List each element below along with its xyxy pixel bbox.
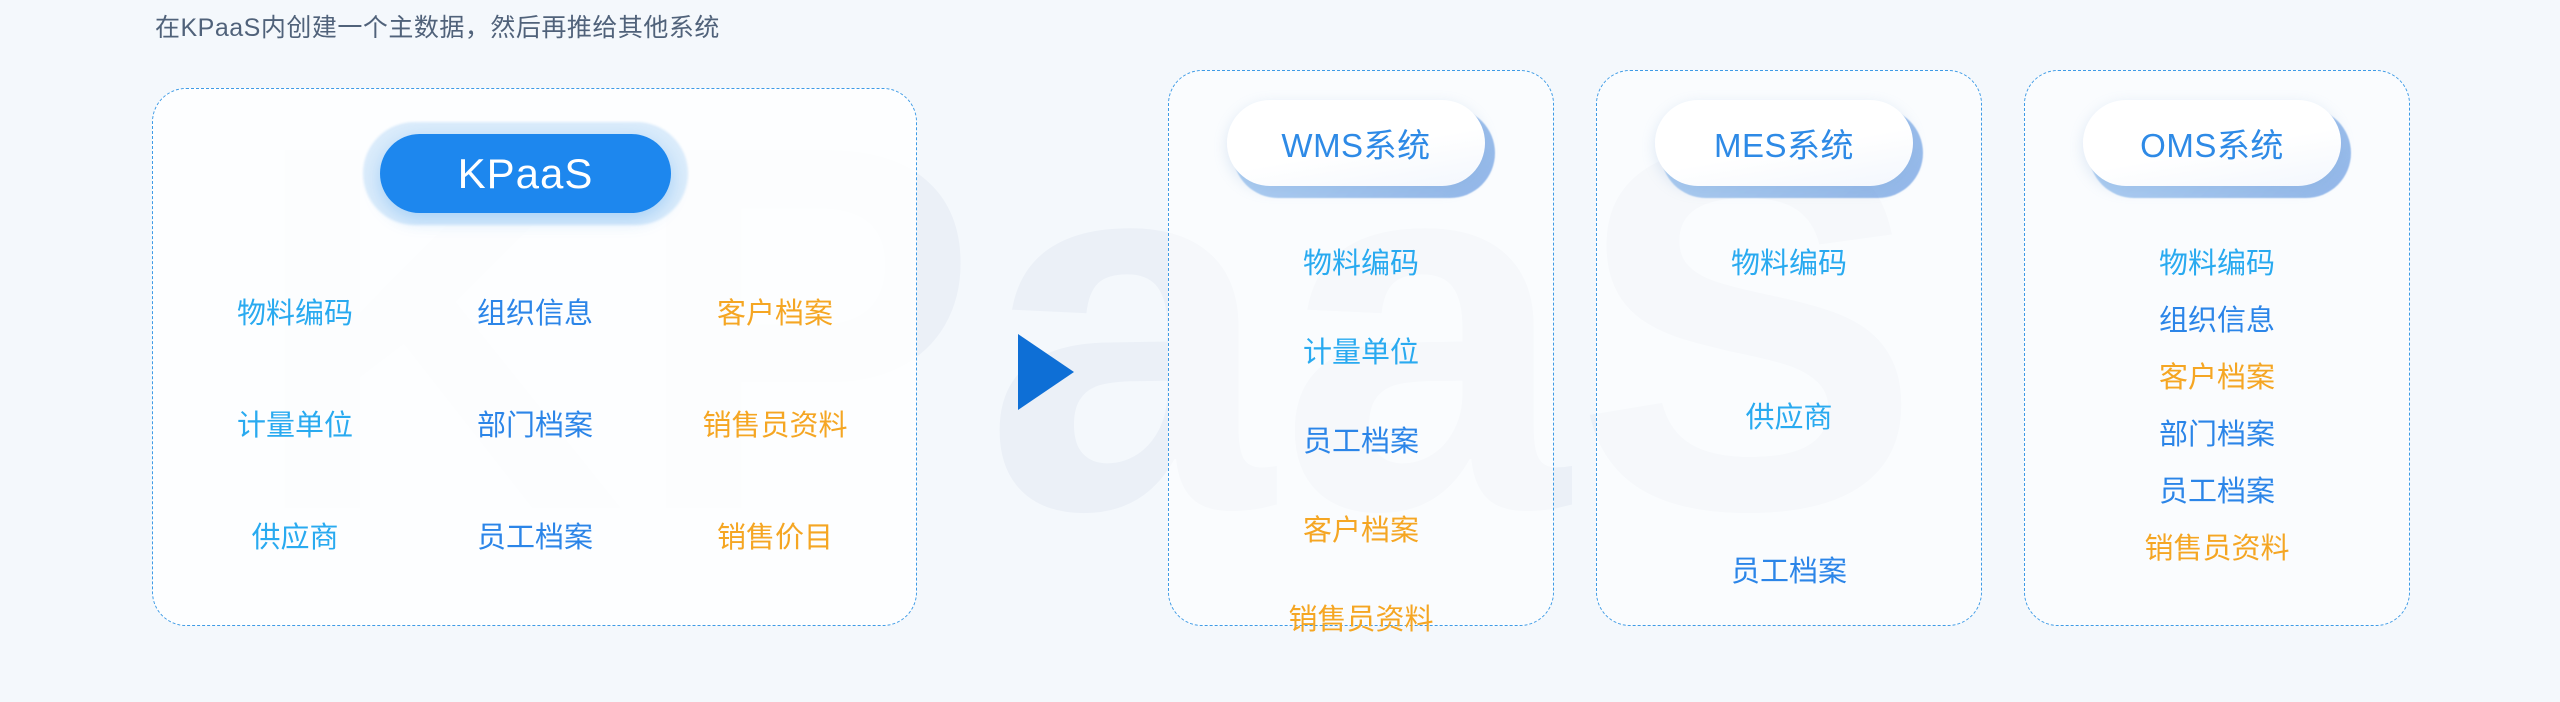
wms-badge-label: WMS系统	[1227, 100, 1485, 186]
wms-item-list: 物料编码计量单位员工档案客户档案销售员资料	[1168, 240, 1554, 685]
mes-item: 供应商	[1745, 394, 1832, 436]
wms-system-badge[interactable]: WMS系统	[1227, 100, 1495, 196]
mes-item: 员工档案	[1731, 548, 1847, 590]
mes-system-badge[interactable]: MES系统	[1655, 100, 1923, 196]
kpaas-data-item: 部门档案	[415, 402, 655, 444]
mes-item: 物料编码	[1731, 240, 1847, 282]
kpaas-data-item: 物料编码	[175, 290, 415, 332]
oms-item: 物料编码	[2159, 240, 2275, 282]
kpaas-data-item: 计量单位	[175, 402, 415, 444]
kpaas-badge-label: KPaaS	[380, 134, 671, 213]
triangle-right-icon	[1018, 334, 1074, 410]
wms-item: 销售员资料	[1288, 596, 1433, 638]
oms-item: 客户档案	[2159, 354, 2275, 396]
kpaas-data-item: 供应商	[175, 514, 415, 556]
wms-item: 员工档案	[1303, 418, 1419, 460]
oms-item: 销售员资料	[2144, 525, 2289, 567]
oms-item-list: 物料编码组织信息客户档案部门档案员工档案销售员资料	[2024, 240, 2410, 582]
mes-badge-label: MES系统	[1655, 100, 1913, 186]
oms-item: 员工档案	[2159, 468, 2275, 510]
kpaas-data-item: 销售价目	[655, 514, 895, 556]
wms-item: 物料编码	[1303, 240, 1419, 282]
kpaas-data-item: 组织信息	[415, 290, 655, 332]
kpaas-data-item: 销售员资料	[655, 402, 895, 444]
oms-system-badge[interactable]: OMS系统	[2083, 100, 2351, 196]
wms-item: 客户档案	[1303, 507, 1419, 549]
kpaas-data-grid: 物料编码组织信息客户档案计量单位部门档案销售员资料供应商员工档案销售价目	[175, 290, 895, 556]
mes-item-list: 物料编码供应商员工档案	[1596, 240, 1982, 702]
kpaas-badge[interactable]: KPaaS	[363, 122, 688, 225]
oms-badge-label: OMS系统	[2083, 100, 2341, 186]
kpaas-data-item: 客户档案	[655, 290, 895, 332]
wms-item: 计量单位	[1303, 329, 1419, 371]
diagram-stage: 在KPaaS内创建一个主数据，然后再推给其他系统 KPaaS 物料编码组织信息客…	[0, 0, 2560, 673]
page-title: 在KPaaS内创建一个主数据，然后再推给其他系统	[155, 8, 720, 44]
kpaas-data-item: 员工档案	[415, 514, 655, 556]
oms-item: 组织信息	[2159, 297, 2275, 339]
oms-item: 部门档案	[2159, 411, 2275, 453]
